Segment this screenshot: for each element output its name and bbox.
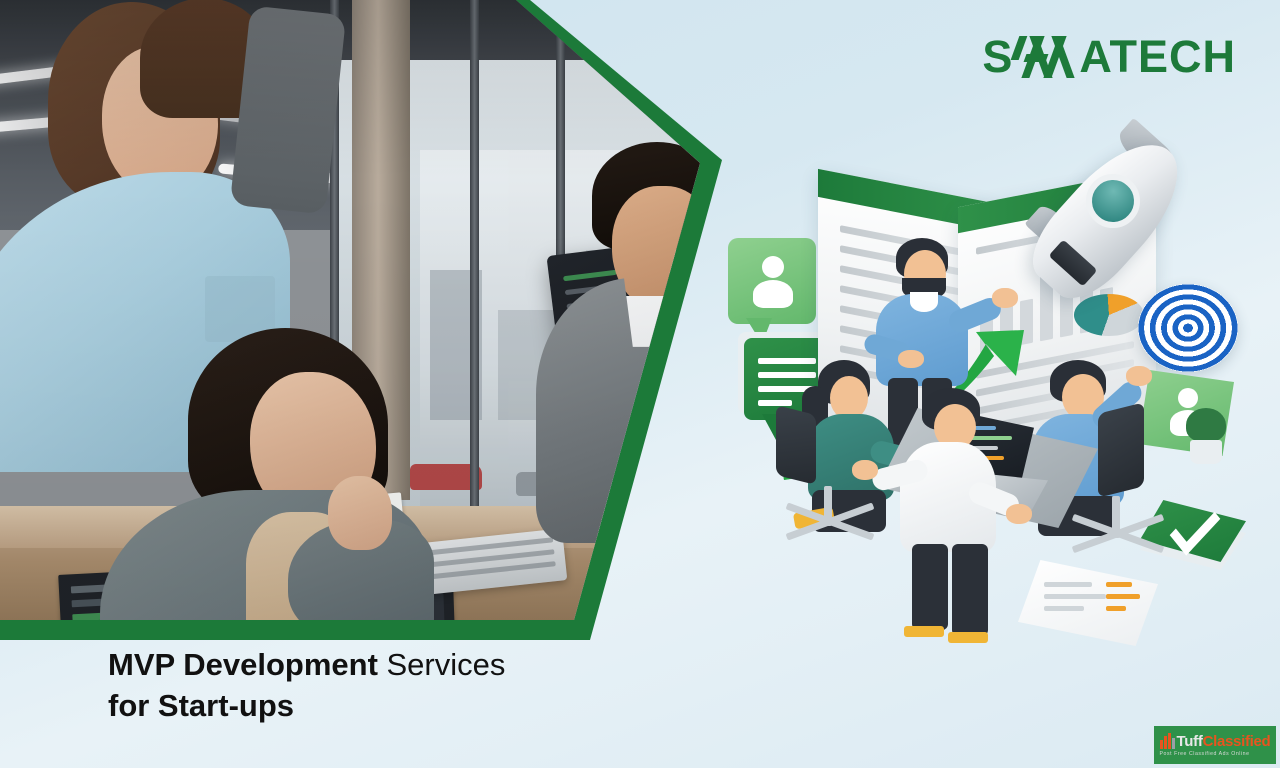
logo-text-part3: ATECH (1079, 34, 1236, 79)
watermark-tuffclassified[interactable]: Tuff Classified Post Free Classified Ads… (1154, 726, 1276, 764)
hero-photo-image (0, 0, 722, 640)
speech-bubble-user (728, 238, 816, 324)
watermark-name-part1: Tuff (1177, 734, 1203, 749)
chair-back (1098, 402, 1144, 497)
bar-chart-icon (1160, 733, 1175, 749)
banner: S ATECH MVP Development Services for Sta… (0, 0, 1280, 768)
sheet-line (1044, 594, 1106, 599)
sheet-line (1044, 606, 1084, 611)
leg-left (912, 544, 948, 630)
logo-text-part1: S (982, 34, 1013, 79)
hand-left (852, 460, 878, 480)
collar (910, 292, 938, 312)
chair-back (776, 405, 816, 485)
shoe-left (904, 626, 944, 637)
brand-logo[interactable]: S ATECH (982, 34, 1236, 79)
hand-raised (1126, 366, 1152, 386)
startup-illustration (700, 0, 1280, 700)
user-icon (750, 256, 796, 308)
user-icon-head (1178, 388, 1198, 408)
watermark-inner: Tuff Classified Post Free Classified Ads… (1160, 733, 1271, 757)
office-chair-left (776, 410, 886, 560)
office-scene (0, 0, 722, 640)
hand-right (992, 288, 1018, 308)
watermark-wordmark: Tuff Classified (1160, 733, 1271, 749)
car (626, 462, 690, 484)
plant-pot (1190, 440, 1222, 464)
user-icon-head (762, 256, 784, 278)
monitor-stand (608, 474, 663, 506)
shoe-right (948, 632, 988, 643)
grey-sweater (536, 278, 722, 543)
headline-strong: MVP Development (108, 647, 378, 682)
user-icon-body (753, 280, 793, 308)
leg-right (952, 544, 988, 636)
sheet-accent (1106, 582, 1132, 587)
person-man-standing (240, 10, 580, 570)
watermark-tagline: Post Free Classified Ads Online (1160, 751, 1250, 757)
target-icon (1138, 284, 1238, 372)
sheet-line (1044, 582, 1092, 587)
report-sheet (1018, 560, 1158, 646)
hand-right (1006, 504, 1032, 524)
headline-line-2: for Start-ups (108, 686, 505, 727)
logo-yn-monogram (1015, 36, 1077, 78)
sheet-accent (1106, 606, 1126, 611)
headline-light: Services (378, 647, 505, 682)
sheet-accent (1106, 594, 1140, 599)
watermark-name-part2: Classified (1203, 734, 1271, 749)
illus-person-standing-white (886, 388, 1016, 628)
page-title: MVP Development Services for Start-ups (108, 645, 505, 727)
hero-photo (0, 0, 722, 640)
plant-foliage (1186, 408, 1226, 442)
potted-plant (1174, 408, 1234, 478)
scarf (230, 6, 346, 215)
headline-line-1: MVP Development Services (108, 645, 505, 686)
